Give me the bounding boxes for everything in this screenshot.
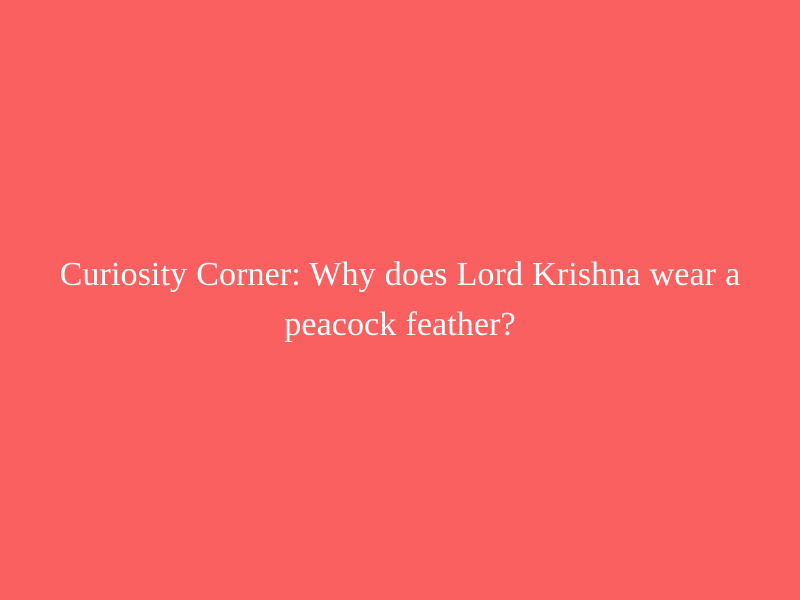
hero-banner: Curiosity Corner: Why does Lord Krishna … [0, 250, 800, 350]
page-title: Curiosity Corner: Why does Lord Krishna … [50, 250, 750, 350]
page-canvas: Curiosity Corner: Why does Lord Krishna … [0, 0, 800, 600]
